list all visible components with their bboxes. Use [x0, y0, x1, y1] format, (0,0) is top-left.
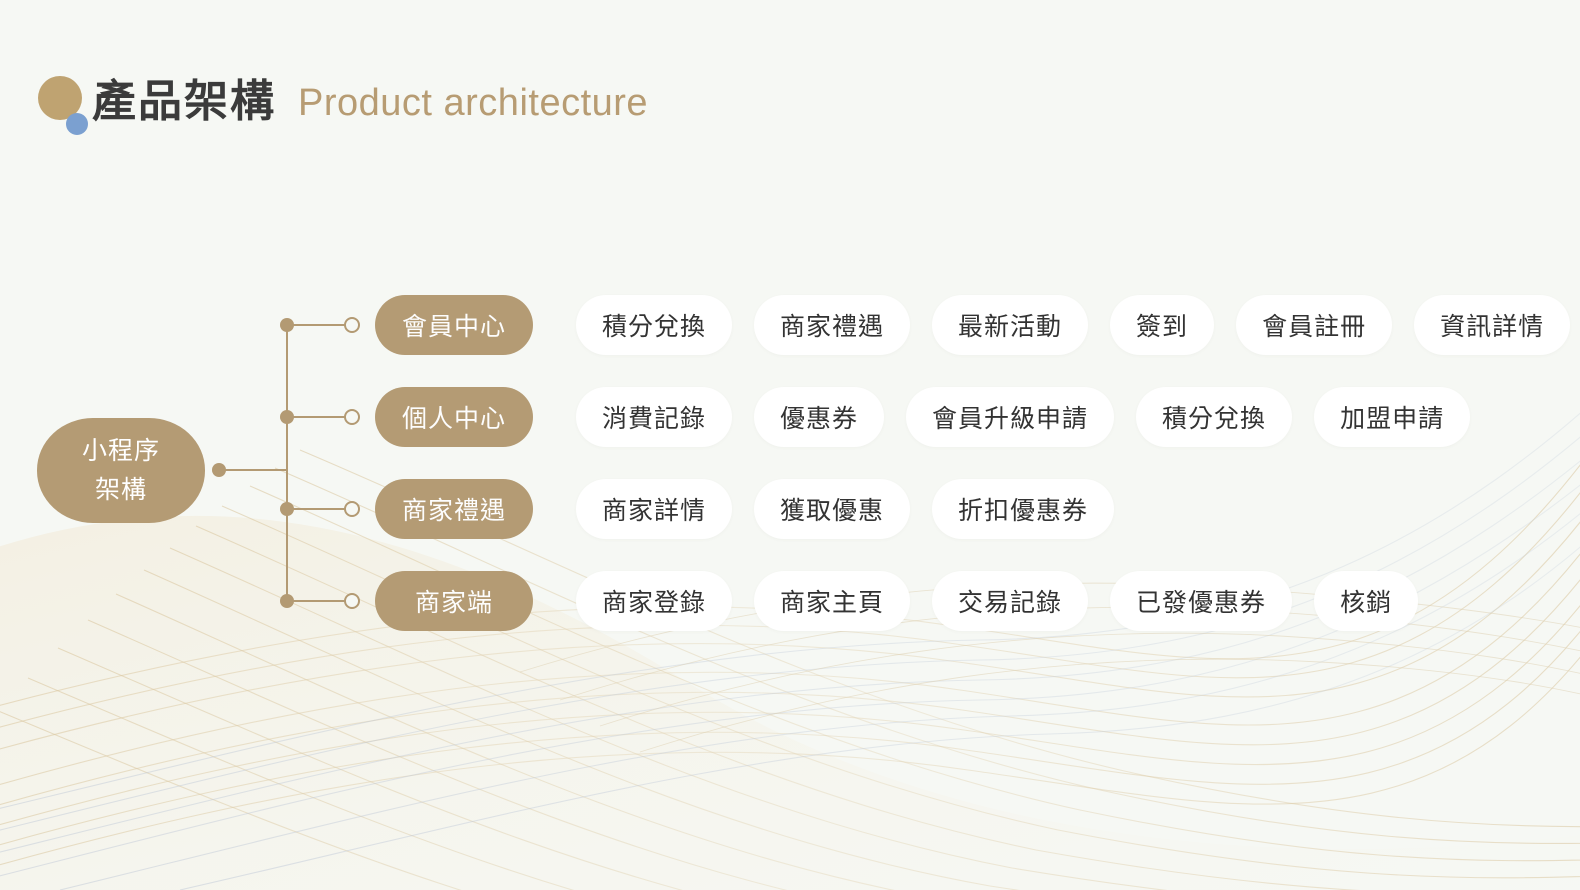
category-label: 商家禮遇	[402, 491, 506, 527]
leaf-pill[interactable]: 加盟申請	[1314, 387, 1470, 447]
header-decoration-dots	[36, 62, 92, 130]
category-pill-merchant-benefits[interactable]: 商家禮遇	[375, 479, 533, 539]
leaf-pill[interactable]: 簽到	[1110, 295, 1214, 355]
blue-circle-icon	[66, 113, 88, 135]
leaf-pill[interactable]: 已發優惠券	[1110, 571, 1292, 631]
leaf-pill[interactable]: 消費記錄	[576, 387, 732, 447]
leaf-pill[interactable]: 商家登錄	[576, 571, 732, 631]
category-label: 商家端	[415, 583, 493, 619]
architecture-diagram: 小程序 架構 會員中心 積分兌換 商家禮遇 最新活動 簽到 會員註冊 資訊詳情 …	[0, 0, 1580, 890]
leaf-pill[interactable]: 商家禮遇	[754, 295, 910, 355]
leaf-pill[interactable]: 最新活動	[932, 295, 1088, 355]
leaf-pill[interactable]: 優惠券	[754, 387, 884, 447]
page-title: 產品架構	[92, 80, 276, 130]
page-subtitle: Product architecture	[298, 84, 648, 130]
leaf-pill[interactable]: 會員註冊	[1236, 295, 1392, 355]
leaf-pill[interactable]: 獲取優惠	[754, 479, 910, 539]
leaf-pill[interactable]: 積分兌換	[576, 295, 732, 355]
root-node-line-2: 架構	[95, 471, 147, 510]
leaf-pill[interactable]: 交易記錄	[932, 571, 1088, 631]
leaf-row-merchant-benefits: 商家詳情 獲取優惠 折扣優惠券	[576, 479, 1136, 539]
leaf-pill[interactable]: 積分兌換	[1136, 387, 1292, 447]
leaf-row-personal-center: 消費記錄 優惠券 會員升級申請 積分兌換 加盟申請	[576, 387, 1492, 447]
category-pill-merchant-side[interactable]: 商家端	[375, 571, 533, 631]
slide-header: 產品架構 Product architecture	[36, 62, 648, 130]
category-pill-member-center[interactable]: 會員中心	[375, 295, 533, 355]
leaf-pill[interactable]: 商家詳情	[576, 479, 732, 539]
leaf-row-member-center: 積分兌換 商家禮遇 最新活動 簽到 會員註冊 資訊詳情	[576, 295, 1580, 355]
category-pill-personal-center[interactable]: 個人中心	[375, 387, 533, 447]
category-label: 會員中心	[402, 307, 506, 343]
leaf-row-merchant-side: 商家登錄 商家主頁 交易記錄 已發優惠券 核銷	[576, 571, 1440, 631]
root-node-mini-program-architecture[interactable]: 小程序 架構	[37, 418, 205, 523]
leaf-pill[interactable]: 核銷	[1314, 571, 1418, 631]
leaf-pill[interactable]: 會員升級申請	[906, 387, 1114, 447]
slide-canvas: 產品架構 Product architecture	[0, 0, 1580, 890]
leaf-pill[interactable]: 資訊詳情	[1414, 295, 1570, 355]
category-label: 個人中心	[402, 399, 506, 435]
leaf-pill[interactable]: 折扣優惠券	[932, 479, 1114, 539]
root-node-line-1: 小程序	[82, 432, 160, 471]
leaf-pill[interactable]: 商家主頁	[754, 571, 910, 631]
